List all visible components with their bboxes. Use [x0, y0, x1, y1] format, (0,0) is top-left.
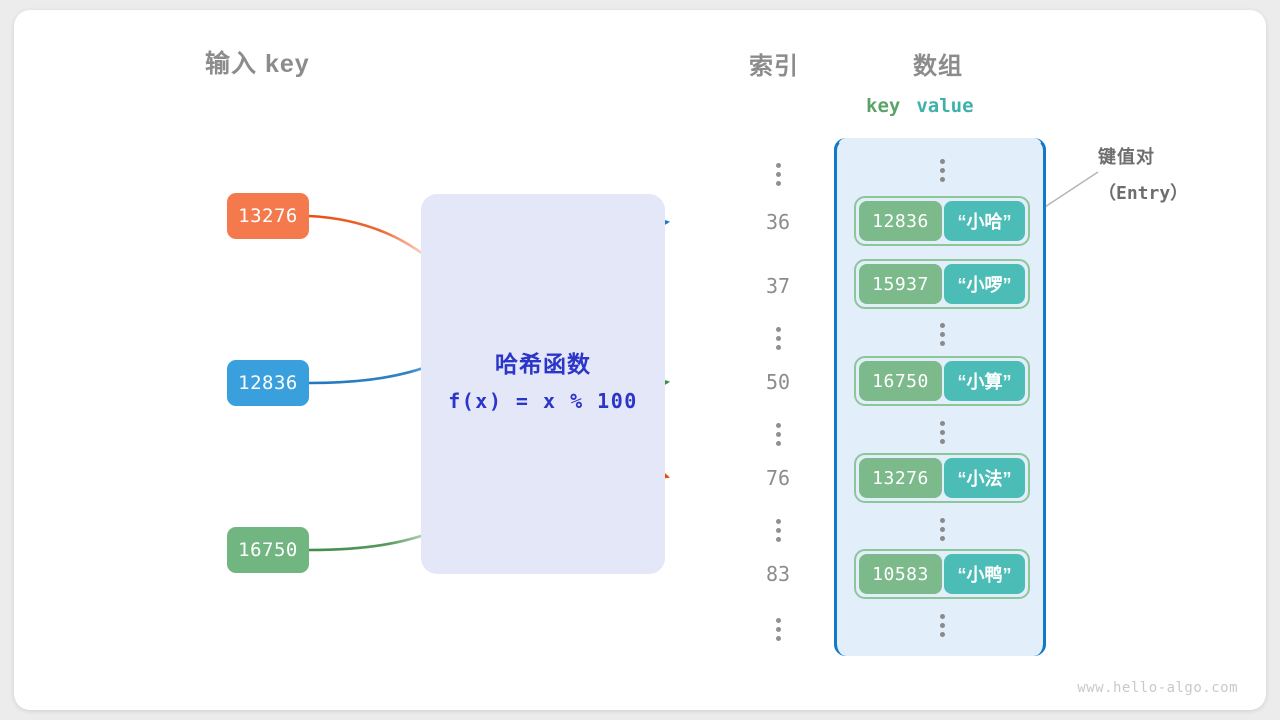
array-ellipsis [854, 614, 1030, 637]
header-input-key: 输入 key [205, 44, 310, 80]
index-ellipsis [752, 423, 804, 446]
entry-value: “小啰” [944, 264, 1025, 304]
entry-key: 16750 [859, 361, 942, 401]
key-value-column-header: keyvalue [866, 95, 974, 117]
header-array: 数组 [913, 46, 963, 81]
hash-function-box: 哈希函数 f(x) = x % 100 [421, 194, 665, 574]
input-key-box-13276: 13276 [227, 193, 309, 239]
table-row: 13276 “小法” [854, 453, 1030, 503]
entry-value: “小鸭” [944, 554, 1025, 594]
input-key-box-12836: 12836 [227, 360, 309, 406]
index-column: 36 37 50 76 83 [752, 0, 812, 720]
index-value-83: 83 [752, 562, 804, 586]
entry-annotation-line1: 键值对 [1098, 143, 1188, 169]
entry-value: “小算” [944, 361, 1025, 401]
index-value-36: 36 [752, 210, 804, 234]
table-row: 15937 “小啰” [854, 259, 1030, 309]
hash-function-formula: f(x) = x % 100 [421, 389, 665, 413]
entry-key: 13276 [859, 458, 942, 498]
input-key-box-16750: 16750 [227, 527, 309, 573]
kv-header-key-label: key [866, 95, 900, 117]
hash-function-title: 哈希函数 [421, 345, 665, 379]
index-value-50: 50 [752, 370, 804, 394]
index-value-76: 76 [752, 466, 804, 490]
table-row: 16750 “小算” [854, 356, 1030, 406]
table-row: 10583 “小鸭” [854, 549, 1030, 599]
index-value-37: 37 [752, 274, 804, 298]
watermark: www.hello-algo.com [1077, 680, 1238, 696]
index-ellipsis [752, 163, 804, 186]
entry-value: “小法” [944, 458, 1025, 498]
index-ellipsis [752, 519, 804, 542]
index-ellipsis [752, 327, 804, 350]
entry-key: 12836 [859, 201, 942, 241]
kv-header-value-label: value [916, 95, 973, 117]
diagram-stage: 输入 key 索引 数组 keyvalue 13276 12836 16750 … [0, 0, 1280, 720]
index-ellipsis [752, 618, 804, 641]
entry-key: 15937 [859, 264, 942, 304]
entry-annotation-line2: （Entry） [1098, 179, 1188, 205]
array-ellipsis [854, 159, 1030, 182]
table-row: 12836 “小哈” [854, 196, 1030, 246]
entry-key: 10583 [859, 554, 942, 594]
entry-value: “小哈” [944, 201, 1025, 241]
array-container: 12836 “小哈” 15937 “小啰” 16750 “小算” 13276 “… [834, 138, 1046, 656]
array-ellipsis [854, 518, 1030, 541]
array-ellipsis [854, 323, 1030, 346]
entry-annotation: 键值对 （Entry） [1098, 143, 1188, 205]
array-ellipsis [854, 421, 1030, 444]
